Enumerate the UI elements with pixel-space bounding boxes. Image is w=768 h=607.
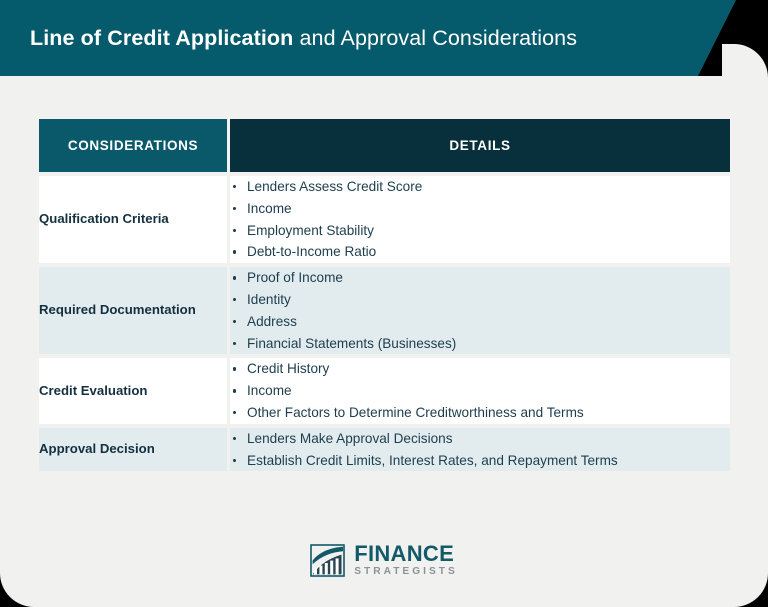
considerations-table-wrapper: CONSIDERATIONS DETAILS Qualification Cri…	[39, 119, 730, 471]
list-item: Other Factors to Determine Creditworthin…	[230, 402, 730, 424]
row-details-approval-decision: Lenders Make Approval Decisions Establis…	[230, 428, 730, 472]
list-item: Financial Statements (Businesses)	[230, 333, 730, 355]
list-item: Debt-to-Income Ratio	[230, 241, 730, 263]
list-item: Proof of Income	[230, 267, 730, 289]
list-item: Employment Stability	[230, 220, 730, 242]
detail-list: Lenders Assess Credit Score Income Emplo…	[230, 176, 730, 263]
table-row: Credit Evaluation Credit History Income …	[39, 358, 730, 423]
page-top-right-rounded-corner	[722, 44, 768, 90]
detail-list: Lenders Make Approval Decisions Establis…	[230, 428, 730, 472]
table-body: Qualification Criteria Lenders Assess Cr…	[39, 172, 730, 471]
finance-strategists-bar-chart-icon	[310, 544, 346, 577]
table-row: Approval Decision Lenders Make Approval …	[39, 428, 730, 472]
detail-list: Credit History Income Other Factors to D…	[230, 358, 730, 423]
row-label-credit-evaluation: Credit Evaluation	[39, 358, 230, 423]
list-item: Lenders Assess Credit Score	[230, 176, 730, 198]
logo-lockup: FINANCE STRATEGISTS	[310, 543, 458, 577]
table-head: CONSIDERATIONS DETAILS	[39, 119, 730, 172]
row-label-required-documentation: Required Documentation	[39, 267, 230, 354]
list-item: Credit History	[230, 358, 730, 380]
list-item: Identity	[230, 289, 730, 311]
detail-list: Proof of Income Identity Address Financi…	[230, 267, 730, 354]
row-label-qualification-criteria: Qualification Criteria	[39, 176, 230, 263]
table-row: Required Documentation Proof of Income I…	[39, 267, 730, 354]
list-item: Address	[230, 311, 730, 333]
row-details-credit-evaluation: Credit History Income Other Factors to D…	[230, 358, 730, 423]
logo-word-finance: FINANCE	[354, 543, 458, 565]
list-item: Lenders Make Approval Decisions	[230, 428, 730, 450]
footer-logo: FINANCE STRATEGISTS	[0, 543, 768, 577]
page-title-bold: Line of Credit Application	[30, 26, 293, 50]
page-title: Line of Credit Application and Approval …	[30, 26, 577, 51]
header-banner: Line of Credit Application and Approval …	[0, 0, 768, 76]
list-item: Establish Credit Limits, Interest Rates,…	[230, 450, 730, 472]
considerations-table: CONSIDERATIONS DETAILS Qualification Cri…	[39, 119, 730, 471]
logo-text: FINANCE STRATEGISTS	[354, 543, 458, 577]
table-row: Qualification Criteria Lenders Assess Cr…	[39, 176, 730, 263]
logo-word-strategists: STRATEGISTS	[354, 567, 458, 577]
infographic-page: Line of Credit Application and Approval …	[0, 0, 768, 607]
row-label-approval-decision: Approval Decision	[39, 428, 230, 472]
page-title-regular: and Approval Considerations	[293, 26, 577, 50]
row-details-required-documentation: Proof of Income Identity Address Financi…	[230, 267, 730, 354]
column-header-considerations: CONSIDERATIONS	[39, 119, 230, 172]
column-header-details: DETAILS	[230, 119, 730, 172]
list-item: Income	[230, 198, 730, 220]
table-header-row: CONSIDERATIONS DETAILS	[39, 119, 730, 172]
list-item: Income	[230, 380, 730, 402]
row-details-qualification-criteria: Lenders Assess Credit Score Income Emplo…	[230, 176, 730, 263]
